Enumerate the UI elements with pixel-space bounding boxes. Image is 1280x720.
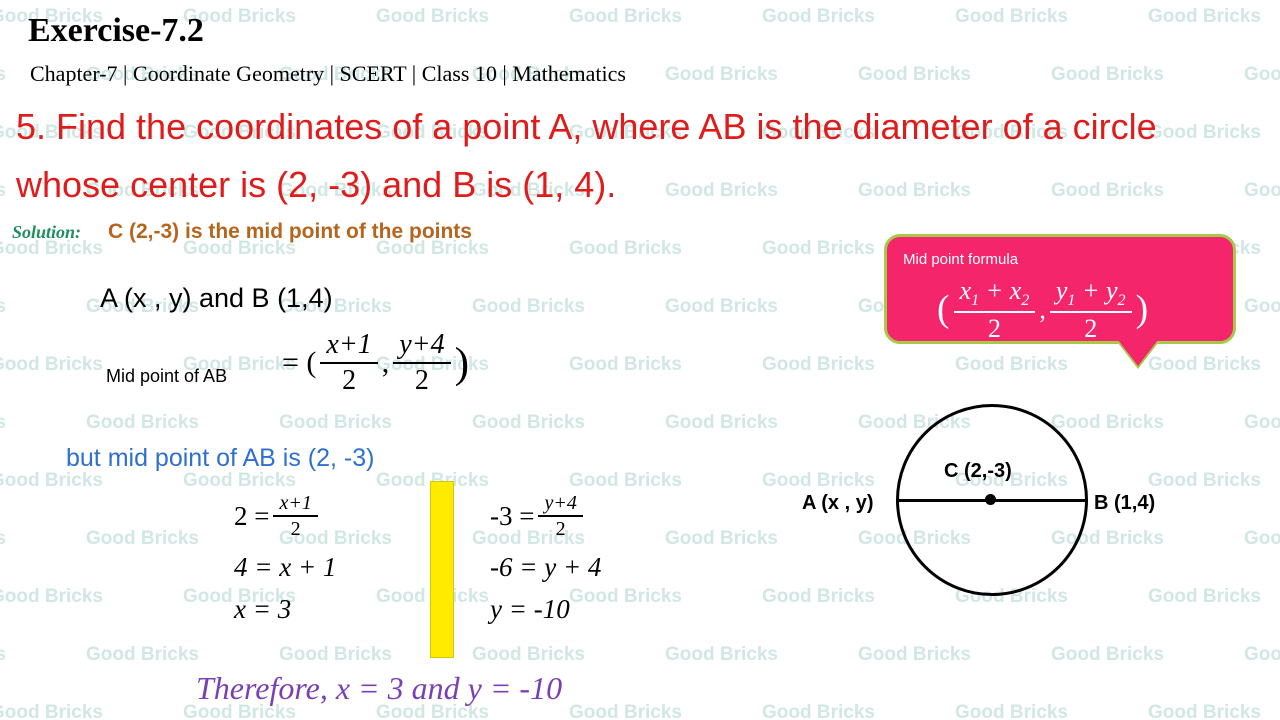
midpoint-den-y: 2 <box>393 362 450 397</box>
equation-row: 2 = x+1 2 <box>234 492 336 541</box>
page-title: Exercise-7.2 <box>28 12 204 50</box>
midpoint-num-y: y+4 <box>393 330 450 362</box>
midpoint-eq-sign: = ( <box>282 346 316 380</box>
points-line: A (x , y) and B (1,4) <box>100 283 333 314</box>
eq-den: 2 <box>273 515 317 541</box>
midpoint-fraction-y: y+4 2 <box>393 330 450 397</box>
callout-open-paren: ( <box>937 293 950 327</box>
slide-stage: Good BricksGood BricksGood BricksGood Br… <box>0 0 1280 720</box>
conclusion-text: Therefore, x = 3 and y = -10 <box>196 670 562 707</box>
question-text: 5. Find the coordinates of a point A, wh… <box>16 98 1266 213</box>
callout-den-x: 2 <box>954 311 1036 344</box>
callout-close-paren: ) <box>1136 293 1149 327</box>
equation-row: 4 = x + 1 <box>234 552 336 583</box>
equation-row: -3 = y+4 2 <box>490 492 601 541</box>
callout-tail <box>1118 340 1158 366</box>
eq-num: x+1 <box>273 492 317 515</box>
callout-den-y: 2 <box>1050 311 1132 344</box>
equations-left-column: 2 = x+1 2 4 = x + 1 x = 3 <box>234 492 336 636</box>
equation-row: -6 = y + 4 <box>490 552 601 583</box>
callout-title: Mid point formula <box>903 251 1018 268</box>
but-midpoint-line: but mid point of AB is (2, -3) <box>66 444 374 473</box>
center-point-dot <box>985 494 996 505</box>
callout-num-y: y1 + y2 <box>1050 277 1132 311</box>
midpoint-formula-callout: Mid point formula ( x1 + x2 2 , y1 + y2 … <box>884 234 1236 344</box>
callout-formula: ( x1 + x2 2 , y1 + y2 2 ) <box>937 277 1148 344</box>
equation-row: y = -10 <box>490 594 601 625</box>
midpoint-fraction-x: x+1 2 <box>320 330 377 397</box>
solution-statement: C (2,-3) is the mid point of the points <box>108 220 472 244</box>
diagram-center-label: C (2,-3) <box>944 460 1012 483</box>
callout-num-x: x1 + x2 <box>954 277 1036 311</box>
midpoint-close-paren: ) <box>455 344 470 383</box>
eq-num: y+4 <box>538 492 582 515</box>
equation-row: x = 3 <box>234 594 336 625</box>
diagram-point-b-label: B (1,4) <box>1094 492 1155 515</box>
slide-content: Exercise-7.2 Chapter-7 | Coordinate Geom… <box>0 0 1280 720</box>
midpoint-den-x: 2 <box>320 362 377 397</box>
midpoint-num-x: x+1 <box>320 330 377 362</box>
equations-right-column: -3 = y+4 2 -6 = y + 4 y = -10 <box>490 492 601 636</box>
callout-fraction-y: y1 + y2 2 <box>1050 277 1132 344</box>
eq-fraction: y+4 2 <box>538 492 582 541</box>
diagram-point-a-label: A (x , y) <box>802 492 874 515</box>
midpoint-expression: = ( x+1 2 , y+4 2 ) <box>282 330 469 397</box>
midpoint-comma: , <box>382 346 390 380</box>
eq-lhs: 2 = <box>234 501 269 532</box>
solution-label: Solution: <box>12 222 81 243</box>
callout-fraction-x: x1 + x2 2 <box>954 277 1036 344</box>
column-divider <box>430 481 454 658</box>
callout-comma: , <box>1039 295 1046 325</box>
eq-fraction: x+1 2 <box>273 492 317 541</box>
midpoint-label: Mid point of AB <box>106 366 227 387</box>
eq-den: 2 <box>538 515 582 541</box>
page-subtitle: Chapter-7 | Coordinate Geometry | SCERT … <box>30 61 626 87</box>
eq-lhs: -3 = <box>490 501 534 532</box>
